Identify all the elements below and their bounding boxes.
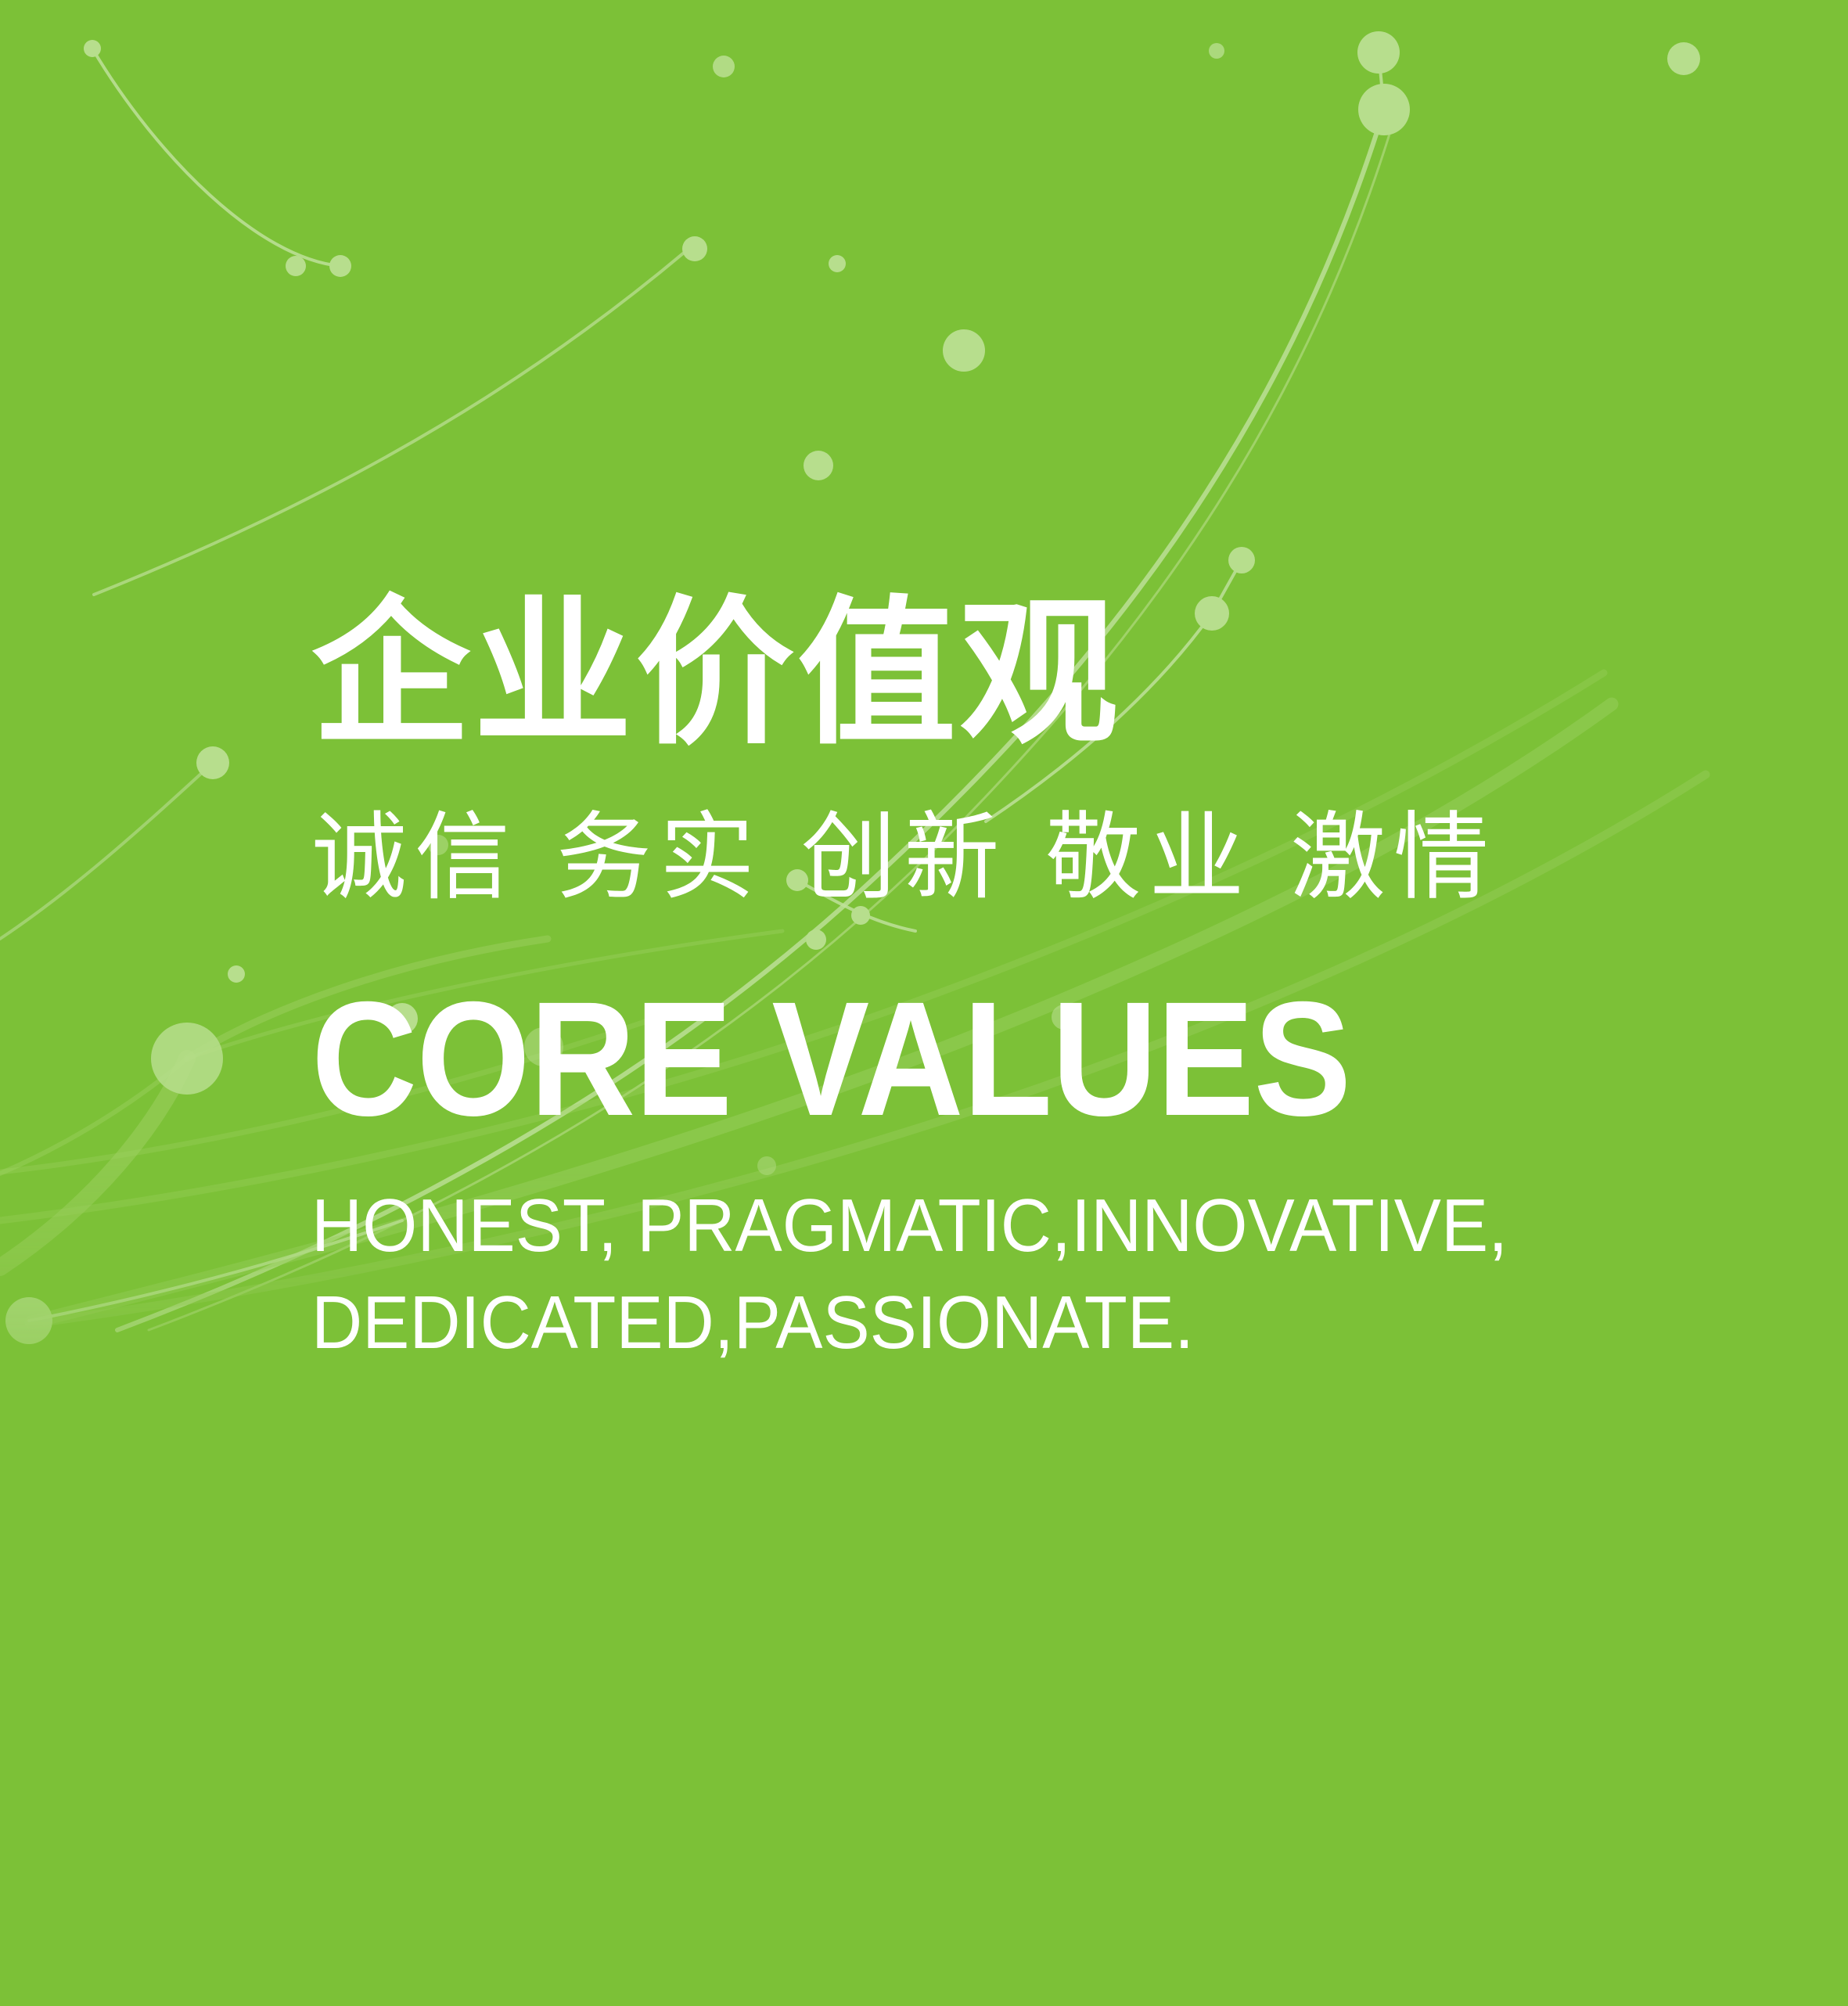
page-title-chinese: 企业价值观 xyxy=(311,595,1720,753)
subtitle-english-line-2: DEDICATED,PASSIONATE. xyxy=(311,1274,1562,1372)
poster-canvas: 企业价值观 诚信 务实 创新 敬业 激情 CORE VALUES HONEST,… xyxy=(0,0,1848,2006)
page-title-english: CORE VALUES xyxy=(311,982,1579,1138)
subtitle-english: HONEST, PRAGMATIC,INNOVATIVE, DEDICATED,… xyxy=(311,1177,1562,1373)
subtitle-chinese: 诚信 务实 创新 敬业 激情 xyxy=(311,810,1720,905)
core-values-text-block: 企业价值观 诚信 务实 创新 敬业 激情 CORE VALUES HONEST,… xyxy=(311,595,1720,1372)
subtitle-english-line-1: HONEST, PRAGMATIC,INNOVATIVE, xyxy=(311,1177,1562,1275)
